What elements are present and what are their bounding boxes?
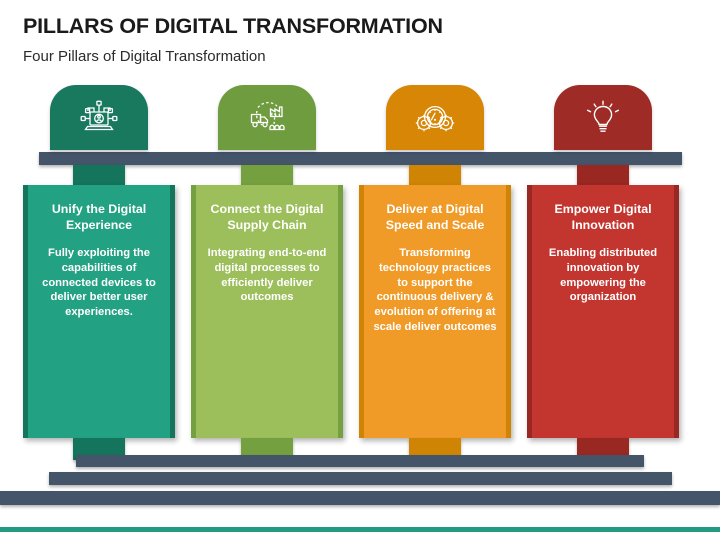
pillar-4-description: Enabling distributed innovation by empow… [541, 246, 665, 306]
pillar-2-description: Integrating end-to-end digital processes… [205, 246, 329, 306]
pillar-1-title: Unify the Digital Experience [37, 202, 161, 234]
pillar-3-description: Transforming technology practices to sup… [373, 246, 497, 335]
page-title: PILLARS OF DIGITAL TRANSFORMATION [23, 14, 443, 39]
pillar-3-body: Deliver at Digital Speed and Scale Trans… [359, 185, 511, 438]
pillar-4-arch [554, 85, 652, 150]
pillar-2-body: Connect the Digital Supply Chain Integra… [191, 185, 343, 438]
pillar-2-edge-right [338, 185, 343, 438]
pillar-1-description: Fully exploiting the capabilities of con… [37, 246, 161, 320]
pillar-1-body: Unify the Digital Experience Fully explo… [23, 185, 175, 438]
page-subtitle: Four Pillars of Digital Transformation [23, 48, 266, 65]
base-beam-1 [76, 455, 644, 467]
footer-accent-bar [0, 527, 720, 532]
pillar-2-arch [218, 85, 316, 150]
pillar-1[interactable]: Unify the Digital Experience Fully explo… [23, 85, 175, 453]
pillar-4[interactable]: Empower Digital Innovation Enabling dist… [527, 85, 679, 453]
pillar-4-edge-right [674, 185, 679, 438]
lightbulb-idea-icon [583, 98, 623, 138]
base-beam-2 [49, 472, 672, 485]
speedometer-gears-icon [411, 100, 459, 136]
pillar-3-title: Deliver at Digital Speed and Scale [373, 202, 497, 234]
pillar-1-edge-right [170, 185, 175, 438]
pillar-1-arch [50, 85, 148, 150]
pillar-3-arch [386, 85, 484, 150]
pillar-3-capital [409, 165, 461, 187]
base-beam-3 [0, 491, 720, 505]
pillar-2[interactable]: Connect the Digital Supply Chain Integra… [191, 85, 343, 453]
slide-canvas: PILLARS OF DIGITAL TRANSFORMATION Four P… [0, 0, 720, 540]
laptop-user-network-icon [77, 99, 121, 137]
pillar-4-title: Empower Digital Innovation [541, 202, 665, 234]
pillar-4-capital [577, 165, 629, 187]
pillar-2-title: Connect the Digital Supply Chain [205, 202, 329, 234]
pillar-1-capital [73, 165, 125, 187]
truck-factory-supply-chain-icon [244, 99, 290, 137]
pillar-2-capital [241, 165, 293, 187]
pillar-4-body: Empower Digital Innovation Enabling dist… [527, 185, 679, 438]
pillar-3[interactable]: Deliver at Digital Speed and Scale Trans… [359, 85, 511, 453]
pillar-3-edge-right [506, 185, 511, 438]
